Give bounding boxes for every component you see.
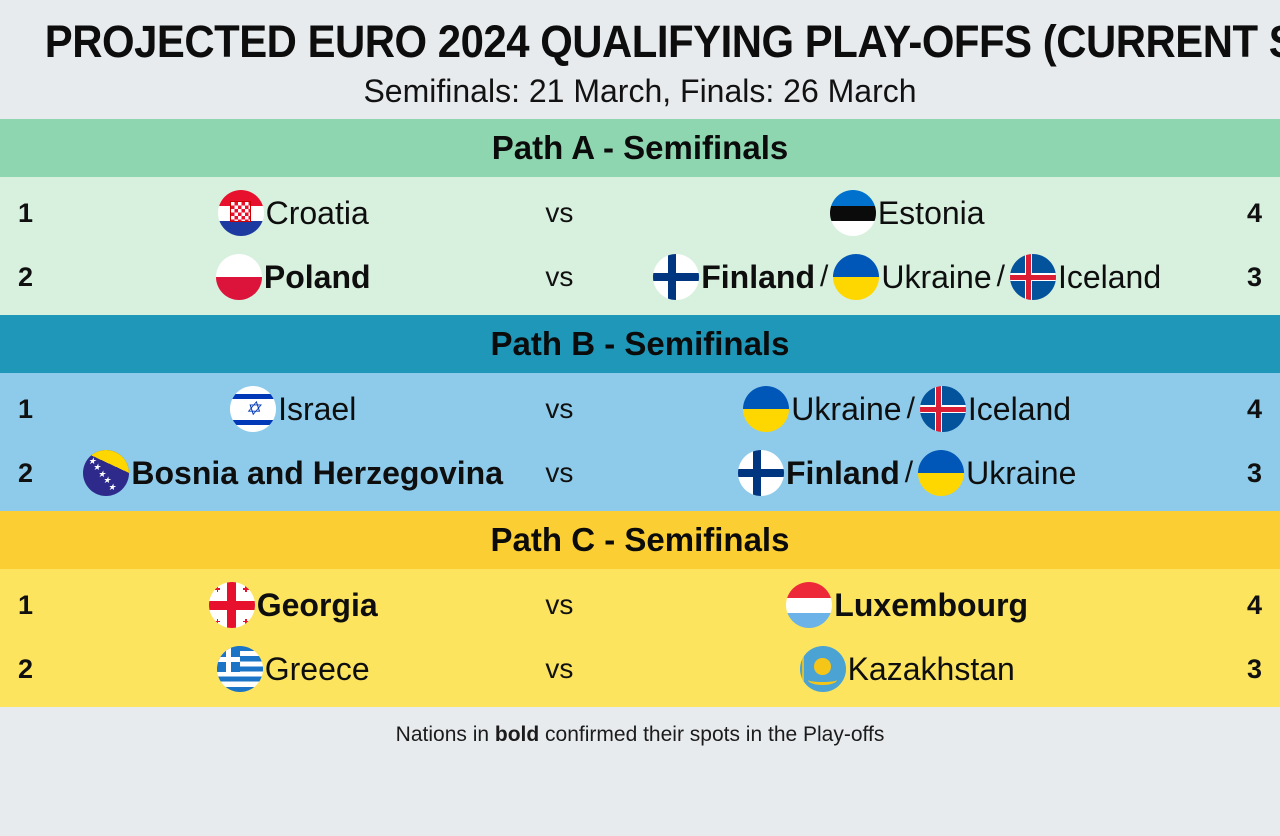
path-c-header: Path C - Semifinals <box>0 511 1280 569</box>
path-c-block: Path C - Semifinals1GeorgiavsLuxembourg4… <box>0 511 1280 707</box>
seed-number: 2 <box>18 458 60 489</box>
home-side: Poland <box>60 254 526 300</box>
flag-finland <box>653 254 699 300</box>
seed-number-away: 3 <box>1222 262 1262 293</box>
seed-number: 2 <box>18 262 60 293</box>
separator-slash: / <box>902 394 920 424</box>
team-ukraine[interactable]: Ukraine <box>833 254 991 300</box>
flag-poland <box>216 254 262 300</box>
away-side: Luxembourg <box>592 582 1222 628</box>
match-row[interactable]: 1CroatiavsEstonia4 <box>0 181 1280 245</box>
path-c-rows: 1GeorgiavsLuxembourg42GreecevsKazakhstan… <box>0 569 1280 707</box>
away-side: Finland/Ukraine <box>592 450 1222 496</box>
seed-number-away: 4 <box>1222 590 1262 621</box>
flag-greece <box>217 646 263 692</box>
away-side: Ukraine/Iceland <box>592 386 1222 432</box>
flag-iceland <box>920 386 966 432</box>
away-side: Kazakhstan <box>592 646 1222 692</box>
match-row[interactable]: 1✡IsraelvsUkraine/Iceland4 <box>0 377 1280 441</box>
team-finland[interactable]: Finland <box>738 450 900 496</box>
match-row[interactable]: 1GeorgiavsLuxembourg4 <box>0 573 1280 637</box>
team-name: Bosnia and Herzegovina <box>129 457 503 489</box>
seed-number-away: 4 <box>1222 198 1262 229</box>
team-estonia[interactable]: Estonia <box>830 190 985 236</box>
vs-label: vs <box>526 197 592 229</box>
team-name: Finland <box>784 457 900 489</box>
vs-label: vs <box>526 393 592 425</box>
page-title: PROJECTED EURO 2024 QUALIFYING PLAY-OFFS… <box>45 18 1235 65</box>
team-croatia[interactable]: Croatia <box>218 190 369 236</box>
page-subtitle: Semifinals: 21 March, Finals: 26 March <box>0 74 1280 109</box>
home-side: ✡Israel <box>60 386 526 432</box>
path-a-rows: 1CroatiavsEstonia42PolandvsFinland/Ukrai… <box>0 177 1280 315</box>
flag-iceland <box>1010 254 1056 300</box>
separator-slash: / <box>992 262 1010 292</box>
team-name: Georgia <box>255 589 378 621</box>
paths-container: Path A - Semifinals1CroatiavsEstonia42Po… <box>0 119 1280 707</box>
flag-croatia <box>218 190 264 236</box>
match-row[interactable]: 2★★★★★Bosnia and HerzegovinavsFinland/Uk… <box>0 441 1280 505</box>
flag-ukraine <box>743 386 789 432</box>
team-israel[interactable]: ✡Israel <box>230 386 356 432</box>
seed-number: 1 <box>18 394 60 425</box>
flag-kazakhstan <box>800 646 846 692</box>
team-name: Ukraine <box>789 393 901 425</box>
team-poland[interactable]: Poland <box>216 254 371 300</box>
team-name: Greece <box>263 653 370 685</box>
footer-suffix: confirmed their spots in the Play-offs <box>539 723 884 746</box>
footer-prefix: Nations in <box>396 723 495 746</box>
path-b-block: Path B - Semifinals1✡IsraelvsUkraine/Ice… <box>0 315 1280 511</box>
path-a-block: Path A - Semifinals1CroatiavsEstonia42Po… <box>0 119 1280 315</box>
match-row[interactable]: 2PolandvsFinland/Ukraine/Iceland3 <box>0 245 1280 309</box>
team-georgia[interactable]: Georgia <box>209 582 378 628</box>
path-a-header: Path A - Semifinals <box>0 119 1280 177</box>
vs-label: vs <box>526 589 592 621</box>
path-b-rows: 1✡IsraelvsUkraine/Iceland42★★★★★Bosnia a… <box>0 373 1280 511</box>
team-ukraine[interactable]: Ukraine <box>743 386 901 432</box>
seed-number: 1 <box>18 590 60 621</box>
team-name: Luxembourg <box>832 589 1028 621</box>
flag-israel: ✡ <box>230 386 276 432</box>
flag-luxembourg <box>786 582 832 628</box>
team-ukraine[interactable]: Ukraine <box>918 450 1076 496</box>
flag-estonia <box>830 190 876 236</box>
team-iceland[interactable]: Iceland <box>920 386 1071 432</box>
away-side: Finland/Ukraine/Iceland <box>592 254 1222 300</box>
team-name: Israel <box>276 393 356 425</box>
flag-bosnia: ★★★★★ <box>83 450 129 496</box>
team-finland[interactable]: Finland <box>653 254 815 300</box>
path-b-header: Path B - Semifinals <box>0 315 1280 373</box>
home-side: Georgia <box>60 582 526 628</box>
home-side: Greece <box>60 646 526 692</box>
flag-georgia <box>209 582 255 628</box>
team-name: Estonia <box>876 197 985 229</box>
vs-label: vs <box>526 457 592 489</box>
team-kazakhstan[interactable]: Kazakhstan <box>800 646 1015 692</box>
team-name: Ukraine <box>879 261 991 293</box>
header: PROJECTED EURO 2024 QUALIFYING PLAY-OFFS… <box>0 0 1280 119</box>
team-name: Iceland <box>966 393 1071 425</box>
vs-label: vs <box>526 261 592 293</box>
match-row[interactable]: 2GreecevsKazakhstan3 <box>0 637 1280 701</box>
flag-ukraine <box>833 254 879 300</box>
team-bosnia[interactable]: ★★★★★Bosnia and Herzegovina <box>83 450 503 496</box>
team-luxembourg[interactable]: Luxembourg <box>786 582 1028 628</box>
seed-number-away: 3 <box>1222 458 1262 489</box>
seed-number: 2 <box>18 654 60 685</box>
team-name: Iceland <box>1056 261 1161 293</box>
separator-slash: / <box>900 458 918 488</box>
seed-number-away: 3 <box>1222 654 1262 685</box>
infographic-root: PROJECTED EURO 2024 QUALIFYING PLAY-OFFS… <box>0 0 1280 836</box>
team-iceland[interactable]: Iceland <box>1010 254 1161 300</box>
team-name: Croatia <box>264 197 369 229</box>
separator-slash: / <box>815 262 833 292</box>
away-side: Estonia <box>592 190 1222 236</box>
team-name: Poland <box>262 261 371 293</box>
seed-number: 1 <box>18 198 60 229</box>
vs-label: vs <box>526 653 592 685</box>
team-greece[interactable]: Greece <box>217 646 370 692</box>
flag-finland <box>738 450 784 496</box>
team-name: Ukraine <box>964 457 1076 489</box>
team-name: Kazakhstan <box>846 653 1015 685</box>
footer-bold-word: bold <box>495 723 539 746</box>
seed-number-away: 4 <box>1222 394 1262 425</box>
team-name: Finland <box>699 261 815 293</box>
flag-ukraine <box>918 450 964 496</box>
home-side: Croatia <box>60 190 526 236</box>
footer-note: Nations in bold confirmed their spots in… <box>0 707 1280 747</box>
home-side: ★★★★★Bosnia and Herzegovina <box>60 450 526 496</box>
